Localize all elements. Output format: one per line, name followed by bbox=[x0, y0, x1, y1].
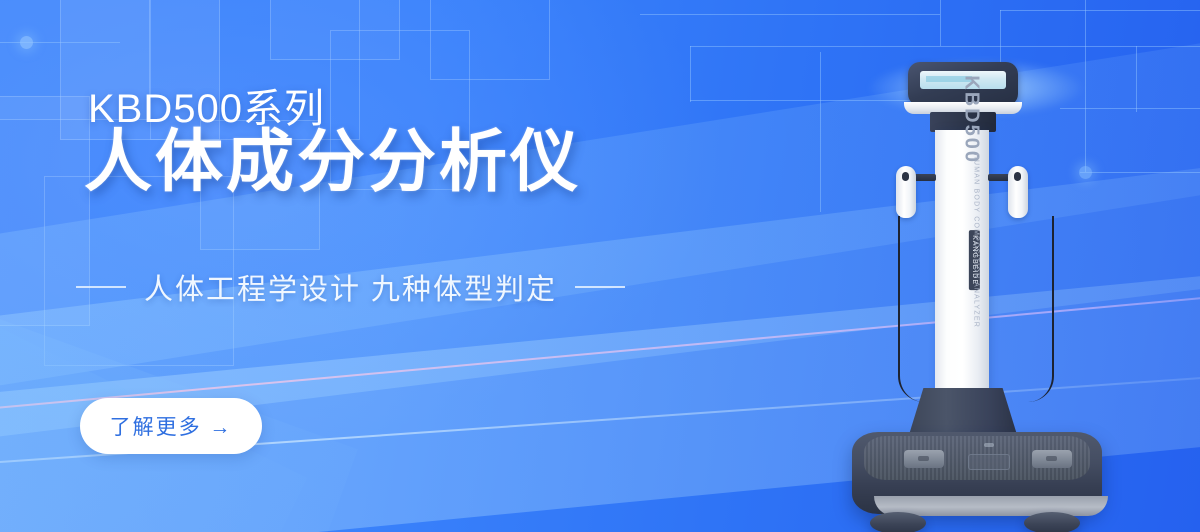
subtitle-divider-right bbox=[575, 286, 625, 288]
handle-arm-right bbox=[988, 174, 1010, 181]
subtitle-divider-left bbox=[76, 286, 126, 288]
device-cable-right bbox=[1028, 216, 1054, 402]
foot-electrode-right bbox=[1032, 450, 1072, 468]
banner-headline: 人体成分分析仪 bbox=[84, 128, 581, 196]
banner-subtitle-row: 人体工程学设计 九种体型判定 bbox=[76, 266, 625, 308]
handle-arm-left bbox=[914, 174, 936, 181]
device-foot-left bbox=[870, 512, 926, 532]
platform-surface bbox=[864, 436, 1090, 480]
foot-electrode-left bbox=[904, 450, 944, 468]
handle-button-right bbox=[1014, 172, 1021, 181]
learn-more-button[interactable]: 了解更多 → bbox=[80, 398, 262, 454]
device-stem bbox=[908, 388, 1018, 438]
handle-button-left bbox=[902, 172, 909, 181]
device-cable-left bbox=[898, 216, 924, 402]
platform-logo-icon bbox=[984, 443, 994, 447]
learn-more-button-label: 了解更多 → bbox=[110, 411, 233, 441]
device-column: KBD500 KANGBEIDE HUMAN BODY COMPOSITION … bbox=[935, 130, 989, 398]
device-platform bbox=[852, 432, 1102, 514]
device-handle-right bbox=[1008, 156, 1028, 218]
device-handle-left bbox=[896, 156, 916, 218]
product-image-body-composition-analyzer: KBD500 KANGBEIDE HUMAN BODY COMPOSITION … bbox=[838, 40, 1118, 532]
product-banner: KBD500系列 人体成分分析仪 人体工程学设计 九种体型判定 了解更多 → K… bbox=[0, 0, 1200, 532]
platform-center-plate bbox=[968, 454, 1010, 470]
device-foot-right bbox=[1024, 512, 1080, 532]
device-brand-text: KBD500 bbox=[960, 75, 983, 164]
device-subtitle-text: HUMAN BODY COMPOSITION ANALYZER bbox=[972, 154, 979, 328]
banner-subtitle: 人体工程学设计 九种体型判定 bbox=[144, 266, 557, 308]
